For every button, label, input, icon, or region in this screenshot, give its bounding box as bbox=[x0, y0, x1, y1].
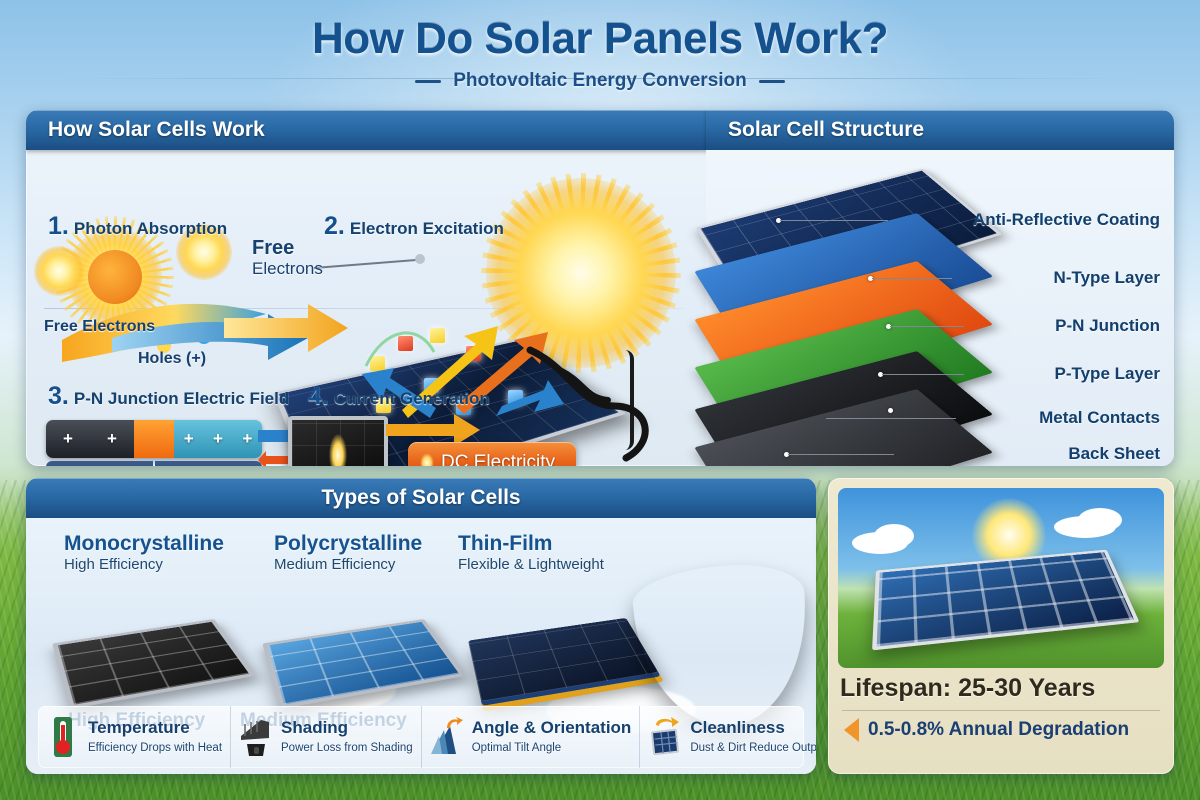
leader-line bbox=[780, 220, 888, 221]
step-4-number: 4. bbox=[308, 382, 329, 411]
type-monocrystalline-efficiency: High Efficiency bbox=[64, 556, 224, 573]
step-3-label: P-N Junction Electric Field bbox=[74, 389, 289, 409]
holes-label: Holes (+) bbox=[138, 350, 206, 368]
n-region-charges: + + + bbox=[174, 420, 262, 458]
spark-icon bbox=[420, 453, 434, 466]
types-of-solar-cells-body: Monocrystalline High Efficiency Polycrys… bbox=[26, 518, 816, 774]
leader-line bbox=[882, 374, 964, 375]
type-polycrystalline-efficiency: Medium Efficiency bbox=[274, 556, 422, 573]
p-region-charges: + + bbox=[46, 420, 134, 458]
photo-cloud bbox=[1078, 508, 1122, 532]
structure-label-n-type: N-Type Layer bbox=[1054, 268, 1160, 288]
tilt-angle-icon bbox=[430, 716, 464, 758]
factor-angle-title: Angle & Orientation bbox=[472, 718, 632, 738]
free-electrons-callout: Free Electrons bbox=[252, 238, 323, 278]
free-electrons-line1: Free bbox=[252, 237, 294, 259]
types-of-solar-cells-header: Types of Solar Cells bbox=[26, 478, 816, 518]
monocrystalline-panel-illustration bbox=[52, 619, 256, 709]
solar-cell-structure-body: Anti-Reflective Coating N-Type Layer P-N… bbox=[706, 150, 1174, 466]
photo-panel-illustration bbox=[872, 550, 1139, 651]
page-header: How Do Solar Panels Work? Photovoltaic E… bbox=[0, 0, 1200, 108]
step-3-heading: 3. P-N Junction Electric Field bbox=[48, 382, 289, 411]
leader-line bbox=[788, 454, 894, 455]
factor-cleanliness-title: Cleanliness bbox=[690, 718, 816, 738]
header-rule bbox=[60, 78, 1140, 79]
leader-line bbox=[890, 326, 964, 327]
photo-cloud bbox=[874, 524, 914, 548]
type-thin-film-efficiency: Flexible & Lightweight bbox=[458, 556, 604, 573]
main-panel-body: 1. Photon Absorption 2. Electron Excitat… bbox=[26, 150, 1174, 466]
pn-type-row: P-Type N-Type bbox=[46, 461, 262, 466]
dash-left-icon bbox=[415, 80, 441, 83]
p-type-label: P-Type bbox=[46, 461, 153, 466]
structure-label-anti-reflective: Anti-Reflective Coating bbox=[973, 210, 1160, 230]
solar-cell-structure-header: Solar Cell Structure bbox=[706, 110, 1174, 150]
factor-shading-title: Shading bbox=[281, 718, 413, 738]
factor-temperature-title: Temperature bbox=[88, 718, 222, 738]
page-subtitle: Photovoltaic Energy Conversion bbox=[453, 70, 747, 92]
pn-charge-row: + + + + + bbox=[46, 420, 262, 458]
lifespan-divider bbox=[842, 710, 1160, 711]
leader-dot bbox=[888, 408, 893, 413]
n-charge-symbol: + bbox=[242, 429, 252, 449]
type-thin-film: Thin-Film Flexible & Lightweight bbox=[458, 532, 604, 573]
free-electrons-leader-icon bbox=[314, 250, 434, 286]
subtitle-row: Photovoltaic Energy Conversion bbox=[0, 70, 1200, 92]
how-solar-cells-work-header: How Solar Cells Work bbox=[26, 110, 706, 150]
step-1-label: Photon Absorption bbox=[74, 219, 227, 239]
factor-shading-desc: Power Loss from Shading bbox=[281, 742, 413, 754]
lifespan-panel: Lifespan: 25-30 Years 0.5-0.8% Annual De… bbox=[828, 478, 1174, 774]
degradation-row: 0.5-0.8% Annual Degradation bbox=[840, 718, 1162, 742]
types-of-solar-cells-panel: Types of Solar Cells Monocrystalline Hig… bbox=[26, 478, 816, 774]
n-type-label: N-Type bbox=[155, 461, 262, 466]
factor-angle-orientation[interactable]: Angle & Orientation Optimal Tilt Angle bbox=[422, 706, 641, 768]
n-charge-symbol: + bbox=[213, 429, 223, 449]
shading-icon bbox=[239, 716, 273, 758]
cable-graphic bbox=[474, 346, 674, 466]
thermometer-icon bbox=[46, 716, 80, 758]
p-charge-symbol: + bbox=[63, 429, 73, 449]
structure-label-back-sheet: Back Sheet bbox=[1068, 444, 1160, 464]
current-meter-illustration bbox=[288, 416, 388, 466]
dash-right-icon bbox=[759, 80, 785, 83]
step-2-label: Electron Excitation bbox=[350, 219, 504, 239]
depletion-region bbox=[134, 420, 174, 458]
n-charge-symbol: + bbox=[184, 429, 194, 449]
solar-cell-structure-title: Solar Cell Structure bbox=[728, 118, 924, 142]
types-of-solar-cells-title: Types of Solar Cells bbox=[321, 486, 520, 510]
lifespan-headline: Lifespan: 25-30 Years bbox=[840, 674, 1162, 703]
type-polycrystalline: Polycrystalline Medium Efficiency bbox=[274, 532, 422, 573]
spark-glow-icon bbox=[329, 434, 347, 466]
factor-shading[interactable]: Shading Power Loss from Shading bbox=[231, 706, 422, 768]
free-electrons-label: Free Electrons bbox=[44, 318, 155, 336]
factor-angle-desc: Optimal Tilt Angle bbox=[472, 742, 561, 754]
main-panel: How Solar Cells Work Solar Cell Structur… bbox=[26, 110, 1174, 466]
pn-junction-diagram: + + + + + P-Type N-Type bbox=[46, 420, 262, 466]
how-solar-cells-work-title: How Solar Cells Work bbox=[48, 118, 265, 142]
structure-label-metal-contacts: Metal Contacts bbox=[1039, 408, 1160, 428]
how-solar-cells-work-body: 1. Photon Absorption 2. Electron Excitat… bbox=[26, 150, 706, 466]
factor-cleanliness-desc: Dust & Dirt Reduce Output bbox=[690, 742, 816, 754]
triangle-left-icon bbox=[844, 718, 859, 742]
structure-label-p-type: P-Type Layer bbox=[1054, 364, 1160, 384]
step-3-number: 3. bbox=[48, 382, 69, 411]
efficiency-factors-strip: Temperature Efficiency Drops with Heat S… bbox=[38, 706, 804, 768]
type-monocrystalline: Monocrystalline High Efficiency bbox=[64, 532, 224, 573]
leader-line bbox=[872, 278, 952, 279]
step-2-number: 2. bbox=[324, 212, 345, 241]
dirty-panel-icon bbox=[648, 716, 682, 758]
step-4-heading: 4. Current Generation bbox=[308, 382, 490, 411]
step-1-number: 1. bbox=[48, 212, 69, 241]
factor-temperature-desc: Efficiency Drops with Heat bbox=[88, 742, 222, 754]
type-monocrystalline-name: Monocrystalline bbox=[64, 532, 224, 556]
structure-label-pn-junction: P-N Junction bbox=[1055, 316, 1160, 336]
factor-temperature[interactable]: Temperature Efficiency Drops with Heat bbox=[38, 706, 231, 768]
step-4-label: Current Generation bbox=[334, 389, 490, 409]
leader-line bbox=[826, 418, 956, 419]
step-2-heading: 2. Electron Excitation bbox=[324, 212, 504, 241]
factor-cleanliness[interactable]: Cleanliness Dust & Dirt Reduce Output bbox=[640, 706, 816, 768]
solar-panel-photo bbox=[838, 488, 1164, 668]
page-title: How Do Solar Panels Work? bbox=[0, 14, 1200, 64]
step-1-heading: 1. Photon Absorption bbox=[48, 212, 227, 241]
degradation-label: 0.5-0.8% Annual Degradation bbox=[868, 719, 1129, 741]
free-electrons-line2: Electrons bbox=[252, 260, 323, 278]
lifespan-text-block: Lifespan: 25-30 Years 0.5-0.8% Annual De… bbox=[840, 674, 1162, 742]
p-charge-symbol: + bbox=[107, 429, 117, 449]
type-thin-film-name: Thin-Film bbox=[458, 532, 604, 556]
type-polycrystalline-name: Polycrystalline bbox=[274, 532, 422, 556]
